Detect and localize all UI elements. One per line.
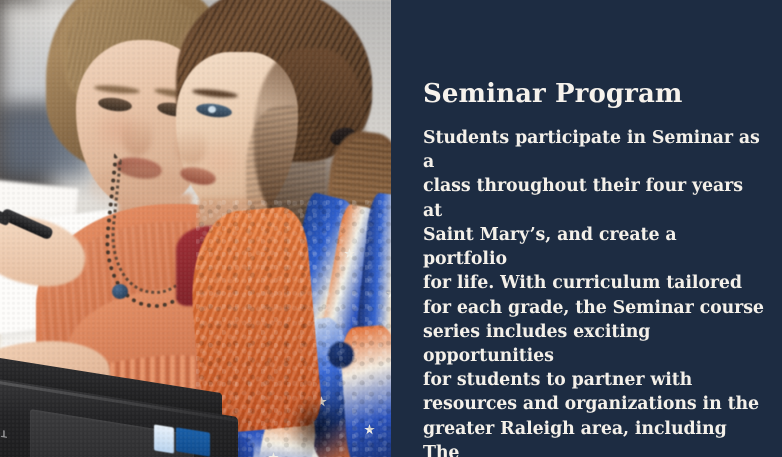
promo-banner: ThinkPad Seminar Program Students partic… [0,0,782,457]
photo-panel: ThinkPad [0,0,391,457]
teacher-face [122,118,152,156]
necklace-pendant [112,284,128,299]
jacket-shadow [288,396,342,457]
student-eye [208,106,216,113]
laptop: ThinkPad [0,372,254,457]
student-face [176,128,206,164]
text-panel: Seminar Program Students participate in … [391,0,782,457]
page-title: Seminar Program [423,80,764,108]
body-paragraph: Students participate in Seminar as a cla… [423,126,764,457]
laptop-sticker [154,424,174,453]
